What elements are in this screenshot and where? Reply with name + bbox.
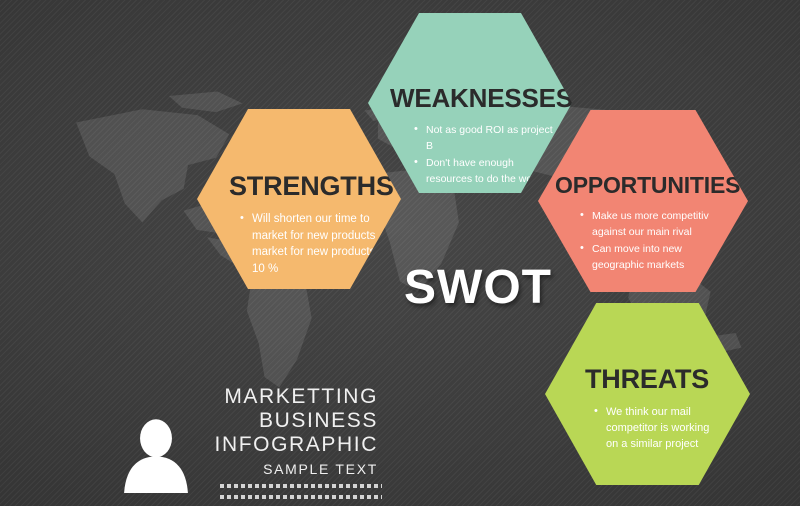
list-item: Not as good ROI as project B (414, 123, 554, 154)
branding-block: MARKETTING BUSINESS INFOGRAPHIC SAMPLE T… (110, 385, 400, 500)
quadrant-title-threats: THREATS (585, 364, 750, 395)
placeholder-line (220, 484, 382, 488)
quadrant-title-weaknesses: WEAKNESSES (390, 83, 572, 114)
quadrant-title-opportunities: OPPORTUNITIES (555, 172, 748, 199)
swot-center-label: SWOT (404, 260, 552, 315)
list-item: We think our mail competitor is working … (594, 404, 724, 452)
placeholder-line (220, 495, 382, 499)
quadrant-title-strengths: STRENGTHS (229, 171, 401, 202)
person-silhouette-icon (118, 417, 194, 493)
list-item: Can move into new geographic markets (580, 242, 730, 273)
list-item: Make us more competitiv against our main… (580, 209, 730, 240)
quadrant-items-threats: We think our mail competitor is working … (594, 404, 724, 454)
quadrant-items-opportunities: Make us more competitiv against our main… (580, 209, 730, 275)
